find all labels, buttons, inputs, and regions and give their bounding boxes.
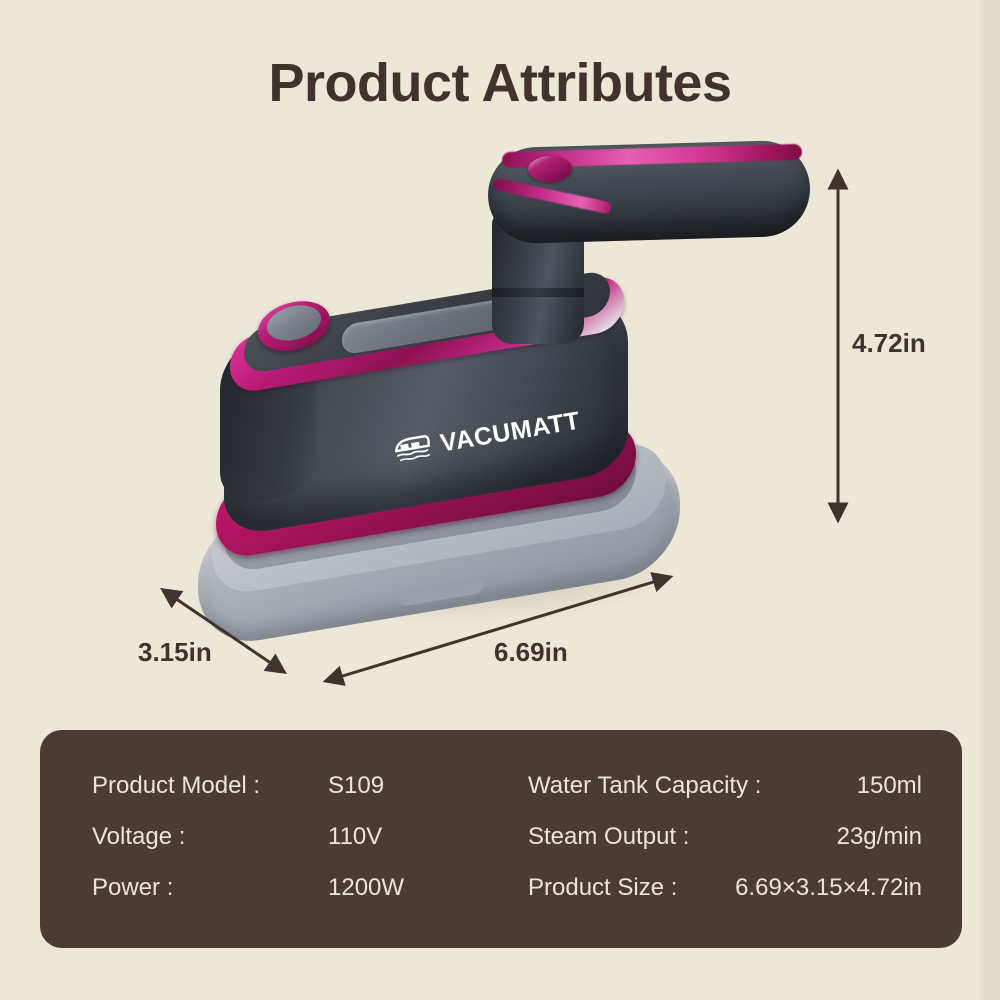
spec-label-product-model: Product Model : [92, 772, 322, 800]
product-illustration: VACUMATT [120, 130, 860, 610]
dimension-label-width: 6.69in [494, 637, 568, 668]
spec-value-product-size: 6.69×3.15×4.72in [720, 874, 922, 902]
spec-value-water-tank-capacity: 150ml [720, 772, 922, 800]
dimension-label-depth: 3.15in [138, 637, 212, 668]
spec-label-water-tank-capacity: Water Tank Capacity : [528, 772, 720, 800]
page-title: Product Attributes [0, 52, 1000, 114]
spec-value-voltage: 110V [322, 823, 528, 851]
spec-table: Product Model : S109 Water Tank Capacity… [92, 772, 922, 902]
spec-label-product-size: Product Size : [528, 874, 720, 902]
steam-iron-icon [391, 432, 435, 466]
spec-value-product-model: S109 [322, 772, 528, 800]
spec-label-power: Power : [92, 874, 322, 902]
spec-label-steam-output: Steam Output : [528, 823, 720, 851]
spec-card: Product Model : S109 Water Tank Capacity… [40, 730, 962, 948]
spec-value-steam-output: 23g/min [720, 823, 922, 851]
infographic-page: Product Attributes [0, 0, 1000, 1000]
spec-value-power: 1200W [322, 874, 528, 902]
dimension-label-height: 4.72in [852, 328, 926, 359]
page-edge-strip [986, 0, 1000, 1000]
handle-neck-ring [492, 288, 584, 297]
page-edge-gradient [976, 0, 986, 1000]
spec-label-voltage: Voltage : [92, 823, 322, 851]
